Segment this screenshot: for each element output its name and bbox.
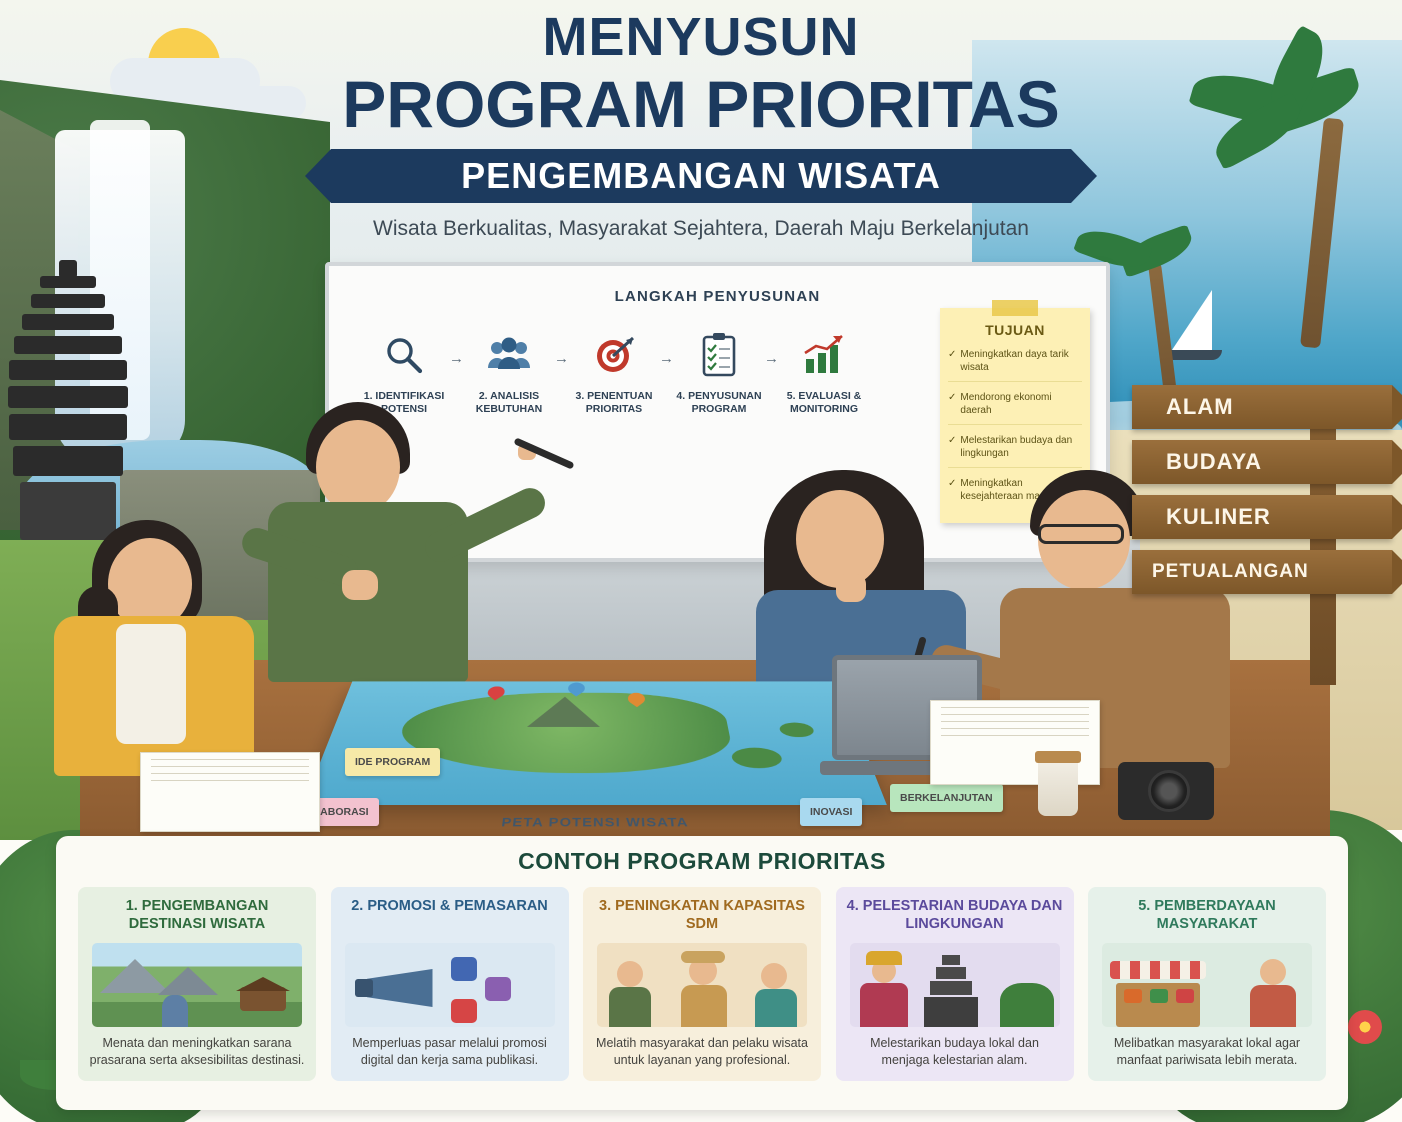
program-card-3[interactable]: 3. PENINGKATAN KAPASITAS SDM Melatih mas… <box>583 887 821 1081</box>
sign-label: BUDAYA <box>1166 449 1262 475</box>
card-text: Menata dan meningkatkan sarana prasarana… <box>88 1035 306 1069</box>
flow-arrow-icon: → <box>554 350 569 367</box>
sticky-card-inovasi[interactable]: INOVASI <box>800 798 862 826</box>
islet <box>730 748 784 769</box>
balinese-dancer-temple-illustration <box>850 943 1060 1027</box>
list-item: ✓ Melestarikan budaya dan lingkungan <box>948 434 1082 468</box>
sticky-card-label: IDE PROGRAM <box>355 756 430 768</box>
face <box>316 420 400 514</box>
ribbon-banner: PENGEMBANGAN WISATA <box>331 149 1071 203</box>
card-title: 3. PENINGKATAN KAPASITAS SDM <box>593 897 811 935</box>
tourism-potential-map: PETA POTENSI WISATA <box>303 681 887 805</box>
list-item: ✓ Meningkatkan daya tarik wisata <box>948 348 1082 382</box>
list-item-label: Meningkatkan daya tarik wisata <box>960 348 1082 374</box>
card-text: Melatih masyarakat dan pelaku wisata unt… <box>593 1035 811 1069</box>
notebook-left[interactable] <box>140 752 320 832</box>
program-card-1[interactable]: 1. PENGEMBANGAN DESTINASI WISATA Menata … <box>78 887 316 1081</box>
sign-kuliner: KULINER <box>1132 495 1392 539</box>
card-text: Melestarikan budaya lokal dan menjaga ke… <box>846 1035 1064 1069</box>
sticky-note-title: TUJUAN <box>940 322 1090 338</box>
title-line-1: MENYUSUN <box>0 10 1402 64</box>
whiteboard-title: LANGKAH PENYUSUNAN <box>329 288 1106 305</box>
check-icon: ✓ <box>948 348 956 374</box>
program-card-2[interactable]: 2. PROMOSI & PEMASARAN Memperluas pasar … <box>331 887 569 1081</box>
sign-label: PETUALANGAN <box>1152 561 1309 583</box>
check-icon: ✓ <box>948 434 956 460</box>
card-text: Melibatkan masyarakat lokal agar manfaat… <box>1098 1035 1316 1069</box>
river-valley-gazebo-illustration <box>92 943 302 1027</box>
megaphone-social-media-icons-illustration <box>345 943 555 1027</box>
people-group-icon <box>464 328 554 382</box>
card-title: 1. PENGEMBANGAN DESTINASI WISATA <box>88 897 306 935</box>
sticky-card-label: INOVASI <box>810 806 852 818</box>
step-label: 5. EVALUASI & MONITORING <box>779 390 869 416</box>
program-cards: 1. PENGEMBANGAN DESTINASI WISATA Menata … <box>56 875 1348 1081</box>
camera <box>1118 762 1214 820</box>
ribbon-label: PENGEMBANGAN WISATA <box>461 155 941 197</box>
list-item: ✓ Mendorong ekonomi daerah <box>948 391 1082 425</box>
inner-shirt <box>116 624 186 744</box>
subtitle: Wisata Berkualitas, Masyarakat Sejahtera… <box>0 217 1402 241</box>
cup-lid <box>1035 751 1081 763</box>
hand-on-chin <box>836 574 866 602</box>
face <box>796 490 884 588</box>
flow-arrow-icon: → <box>659 350 674 367</box>
list-item-label: Melestarikan budaya dan lingkungan <box>960 434 1082 460</box>
program-card-5[interactable]: 5. PEMBERDAYAAN MASYARAKAT Melibatkan ma… <box>1088 887 1326 1081</box>
flow-arrow-icon: → <box>764 350 779 367</box>
step-label: 4. PENYUSUNAN PROGRAM <box>674 390 764 416</box>
panel-title: CONTOH PROGRAM PRIORITAS <box>56 848 1348 875</box>
card-title: 5. PEMBERDAYAAN MASYARAKAT <box>1098 897 1316 935</box>
camera-lens <box>1148 770 1190 812</box>
presenter-man-green <box>250 402 550 702</box>
title-block: MENYUSUN PROGRAM PRIORITAS PENGEMBANGAN … <box>0 10 1402 241</box>
card-text: Memperluas pasar melalui promosi digital… <box>341 1035 559 1069</box>
flow-arrow-icon: → <box>449 350 464 367</box>
check-icon: ✓ <box>948 391 956 417</box>
sticky-card-label: BERKELANJUTAN <box>900 792 993 804</box>
sticky-card-ide-program[interactable]: IDE PROGRAM <box>345 748 440 776</box>
sign-alam: ALAM <box>1132 385 1392 429</box>
sign-label: ALAM <box>1166 394 1234 420</box>
step-item: 5. EVALUASI & MONITORING <box>779 328 869 416</box>
sign-budaya: BUDAYA <box>1132 440 1392 484</box>
sticky-card-berkelanjutan[interactable]: BERKELANJUTAN <box>890 784 1003 812</box>
hand <box>342 570 378 600</box>
card-title: 4. PELESTARIAN BUDAYA DAN LINGKUNGAN <box>846 897 1064 935</box>
tape-strip <box>992 300 1038 316</box>
flower-icon <box>1348 1010 1382 1044</box>
target-dart-icon <box>569 328 659 382</box>
balinese-temple-icon <box>8 260 128 540</box>
bar-chart-growth-icon <box>779 328 869 382</box>
market-stall-vendor-illustration <box>1102 943 1312 1027</box>
list-item-label: Mendorong ekonomi daerah <box>960 391 1082 417</box>
title-line-2: PROGRAM PRIORITAS <box>0 70 1402 139</box>
magnifier-icon <box>359 328 449 382</box>
sign-label: KULINER <box>1166 504 1271 530</box>
example-programs-panel: CONTOH PROGRAM PRIORITAS 1. PENGEMBANGAN… <box>56 836 1348 1110</box>
islet <box>778 723 816 738</box>
sign-petualangan: PETUALANGAN <box>1132 550 1392 594</box>
wooden-signpost: ALAM BUDAYA KULINER PETUALANGAN <box>1132 385 1392 605</box>
three-trained-guides-illustration <box>597 943 807 1027</box>
coffee-cup <box>1038 758 1078 816</box>
clipboard-checklist-icon <box>674 328 764 382</box>
program-card-4[interactable]: 4. PELESTARIAN BUDAYA DAN LINGKUNGAN Mel… <box>836 887 1074 1081</box>
step-item: 3. PENENTUAN PRIORITAS <box>569 328 659 416</box>
step-label: 3. PENENTUAN PRIORITAS <box>569 390 659 416</box>
step-item: 4. PENYUSUNAN PROGRAM <box>674 328 764 416</box>
eyeglasses-icon <box>1038 524 1124 544</box>
card-title: 2. PROMOSI & PEMASARAN <box>341 897 559 935</box>
